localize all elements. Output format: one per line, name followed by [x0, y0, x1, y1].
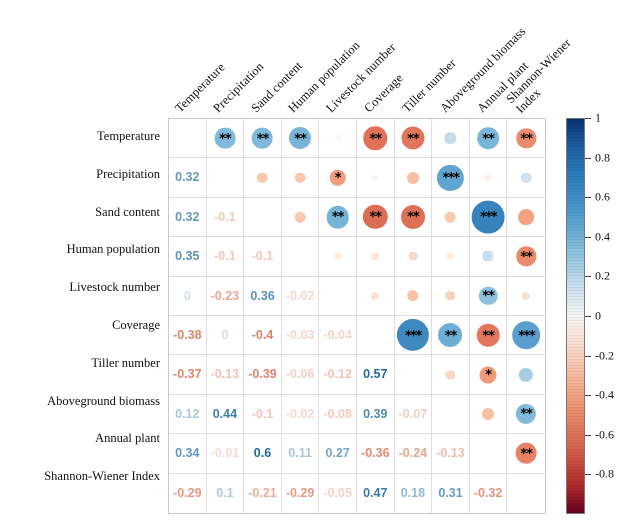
correlation-value: 0 [184, 290, 191, 303]
cell-value: 0.34 [169, 434, 207, 473]
cell-circle: ** [507, 395, 545, 434]
correlation-value: 0.44 [213, 408, 237, 421]
row-label-temperature: Temperature [0, 130, 160, 143]
cell-value: 0.44 [207, 395, 245, 434]
cell-circle [432, 277, 470, 316]
cell-diagonal [432, 395, 470, 434]
significance-stars: ** [482, 133, 494, 146]
correlation-dot [257, 172, 268, 183]
correlation-dot [409, 252, 418, 261]
cell-diagonal [507, 474, 545, 513]
cell-value: 0.32 [169, 198, 207, 237]
correlation-value: -0.29 [286, 487, 315, 500]
correlation-value: -0.01 [211, 447, 240, 460]
cell-circle [507, 277, 545, 316]
significance-stars: *** [518, 330, 534, 343]
cell-value: -0.03 [282, 316, 320, 355]
correlation-dot [482, 408, 494, 420]
cell-value: -0.13 [432, 434, 470, 473]
cell-circle: * [470, 355, 508, 394]
correlation-value: -0.1 [252, 408, 274, 421]
correlation-dot [407, 290, 419, 302]
colorbar-tick-label: 0.6 [595, 190, 610, 205]
cell-value: -0.02 [282, 277, 320, 316]
row-labels: TemperaturePrecipitationSand contentHuma… [0, 118, 166, 514]
significance-stars: ** [332, 211, 344, 224]
correlation-dot [485, 174, 491, 180]
row-label-human-population: Human population [0, 243, 160, 256]
row-label-tiller-number: Tiller number [0, 357, 160, 370]
correlation-value: -0.13 [436, 447, 465, 460]
correlation-value: 0.12 [175, 408, 199, 421]
cell-circle [470, 237, 508, 276]
cell-value: -0.37 [169, 355, 207, 394]
cell-value: -0.07 [395, 395, 433, 434]
correlation-value: -0.24 [399, 447, 428, 460]
cell-circle: * [319, 158, 357, 197]
column-labels: TemperaturePrecipitationSand contentHuma… [168, 0, 546, 118]
cell-circle: ** [507, 119, 545, 158]
cell-circle [395, 277, 433, 316]
significance-stars: ** [482, 290, 494, 303]
significance-stars: ** [520, 251, 532, 264]
cell-value: -0.39 [244, 355, 282, 394]
significance-stars: * [335, 172, 341, 185]
cell-value: 0.6 [244, 434, 282, 473]
cell-value: -0.38 [169, 316, 207, 355]
cell-circle: ** [470, 316, 508, 355]
cell-diagonal [282, 237, 320, 276]
correlation-value: -0.07 [399, 408, 428, 421]
correlation-value: -0.21 [248, 487, 277, 500]
cell-value: -0.23 [207, 277, 245, 316]
correlation-dot [371, 292, 379, 300]
colorbar-gradient [566, 118, 585, 514]
correlation-value: -0.29 [173, 487, 202, 500]
cell-circle: ** [432, 316, 470, 355]
correlation-value: -0.37 [173, 368, 202, 381]
cell-value: -0.1 [207, 237, 245, 276]
significance-stars: ** [219, 133, 231, 146]
significance-stars: ** [369, 211, 381, 224]
correlation-dot [483, 251, 494, 262]
colorbar-tick [585, 395, 591, 396]
correlation-value: 0.39 [363, 408, 387, 421]
correlation-dot [521, 172, 532, 183]
cell-circle: ** [357, 198, 395, 237]
correlation-value: 0.27 [326, 447, 350, 460]
cell-diagonal [244, 198, 282, 237]
cell-value: 0.11 [282, 434, 320, 473]
correlation-dot [446, 370, 455, 379]
cell-value: -0.32 [470, 474, 508, 513]
cell-value: -0.05 [319, 474, 357, 513]
cell-value: 0.39 [357, 395, 395, 434]
correlation-dot [407, 172, 419, 184]
cell-circle: *** [395, 316, 433, 355]
cell-circle [395, 158, 433, 197]
cell-circle [319, 237, 357, 276]
correlation-dot [518, 209, 534, 225]
cell-circle [507, 198, 545, 237]
correlation-value: 0.32 [175, 171, 199, 184]
significance-stars: ** [520, 408, 532, 421]
colorbar-tick [585, 118, 591, 119]
colorbar-tick [585, 197, 591, 198]
correlation-dot [335, 135, 341, 141]
cell-value: -0.1 [244, 395, 282, 434]
colorbar-tick-label: -0.2 [595, 348, 614, 363]
cell-value: 0.47 [357, 474, 395, 513]
cell-circle: ** [395, 119, 433, 158]
cell-circle: ** [470, 119, 508, 158]
cell-diagonal [395, 355, 433, 394]
cell-value: 0.27 [319, 434, 357, 473]
correlation-dot [522, 292, 530, 300]
correlation-value: -0.32 [474, 487, 503, 500]
correlation-value: 0.32 [175, 211, 199, 224]
correlation-dot [372, 175, 378, 181]
cell-circle [244, 158, 282, 197]
significance-stars: ** [520, 448, 532, 461]
correlation-dot [295, 212, 306, 223]
correlation-dot [519, 367, 533, 381]
cell-value: -0.29 [282, 474, 320, 513]
cell-value: 0.1 [207, 474, 245, 513]
cell-value: -0.1 [244, 237, 282, 276]
correlation-grid: **************0.32****0.32-0.1*********0… [168, 118, 546, 514]
correlation-value: 0.47 [363, 487, 387, 500]
cell-value: -0.13 [207, 355, 245, 394]
correlation-value: 0.11 [288, 447, 312, 460]
colorbar-tick [585, 435, 591, 436]
cell-value: -0.21 [244, 474, 282, 513]
correlation-value: -0.36 [361, 447, 390, 460]
correlation-value: 0.34 [175, 447, 199, 460]
cell-value: -0.24 [395, 434, 433, 473]
correlation-value: 0.6 [254, 447, 271, 460]
cell-circle [357, 277, 395, 316]
correlation-value: -0.02 [286, 290, 315, 303]
cell-diagonal [169, 119, 207, 158]
cell-value: -0.12 [319, 355, 357, 394]
colorbar-tick [585, 158, 591, 159]
correlation-value: -0.23 [211, 290, 240, 303]
cell-circle: ** [282, 119, 320, 158]
colorbar-tick-label: 0.2 [595, 269, 610, 284]
cell-value: -0.06 [282, 355, 320, 394]
significance-stars: ** [445, 330, 457, 343]
correlation-value: -0.38 [173, 329, 202, 342]
colorbar-tick [585, 474, 591, 475]
correlation-value: -0.1 [214, 250, 236, 263]
cell-circle [470, 158, 508, 197]
cell-value: -0.36 [357, 434, 395, 473]
colorbar-tick-label: -0.4 [595, 388, 614, 403]
correlation-value: -0.1 [214, 211, 236, 224]
correlation-value: -0.05 [323, 487, 352, 500]
cell-circle: ** [207, 119, 245, 158]
cell-diagonal [357, 316, 395, 355]
cell-circle [319, 119, 357, 158]
correlation-dot [334, 253, 341, 260]
cell-diagonal [319, 277, 357, 316]
row-label-livestock-number: Livestock number [0, 281, 160, 294]
row-label-coverage: Coverage [0, 319, 160, 332]
correlation-dot [295, 172, 306, 183]
colorbar-tick-label: -0.6 [595, 427, 614, 442]
cell-value: -0.1 [207, 198, 245, 237]
cell-value: 0.32 [169, 158, 207, 197]
row-label-shannon-wiener-index: Shannon-Wiener Index [0, 470, 160, 483]
cell-value: 0.12 [169, 395, 207, 434]
cell-value: -0.4 [244, 316, 282, 355]
significance-stars: * [485, 369, 491, 382]
cell-circle: ** [507, 434, 545, 473]
correlation-value: -0.03 [286, 329, 315, 342]
colorbar-tick-label: 0 [595, 309, 601, 324]
correlation-value: 0.57 [363, 368, 387, 381]
significance-stars: ** [294, 133, 306, 146]
cell-circle: ** [470, 277, 508, 316]
cell-circle: ** [395, 198, 433, 237]
correlation-value: -0.04 [323, 329, 352, 342]
cell-circle: *** [507, 316, 545, 355]
cell-diagonal [207, 158, 245, 197]
colorbar-tick [585, 237, 591, 238]
cell-value: -0.29 [169, 474, 207, 513]
colorbar-tick-label: 0.4 [595, 229, 610, 244]
correlation-value: -0.08 [323, 408, 352, 421]
row-label-precipitation: Precipitation [0, 168, 160, 181]
significance-stars: ** [369, 133, 381, 146]
cell-value: -0.01 [207, 434, 245, 473]
correlation-value: -0.4 [252, 329, 274, 342]
cell-circle [432, 355, 470, 394]
correlation-value: 0 [221, 329, 228, 342]
cell-circle: ** [507, 237, 545, 276]
cell-value: 0.35 [169, 237, 207, 276]
significance-stars: ** [482, 330, 494, 343]
cell-circle [432, 237, 470, 276]
significance-stars: ** [257, 133, 269, 146]
correlation-value: -0.06 [286, 368, 315, 381]
cell-circle [432, 198, 470, 237]
correlation-matrix-figure: TemperaturePrecipitationSand contentHuma… [0, 0, 631, 527]
cell-circle [395, 237, 433, 276]
colorbar-tick-label: -0.8 [595, 467, 614, 482]
correlation-dot [372, 253, 379, 260]
correlation-value: 0.1 [216, 487, 233, 500]
significance-stars: *** [405, 330, 421, 343]
colorbar-tick-label: 0.8 [595, 150, 610, 165]
cell-circle: *** [470, 198, 508, 237]
cell-value: 0.31 [432, 474, 470, 513]
cell-circle [432, 119, 470, 158]
cell-circle [282, 198, 320, 237]
cell-value: 0 [207, 316, 245, 355]
cell-circle: ** [244, 119, 282, 158]
correlation-dot [446, 291, 456, 301]
cell-value: 0.18 [395, 474, 433, 513]
colorbar: 10.80.60.40.20-0.2-0.4-0.6-0.8 [566, 118, 631, 514]
cell-circle [507, 158, 545, 197]
correlation-dot [445, 132, 457, 144]
correlation-value: -0.13 [211, 368, 240, 381]
row-label-annual-plant: Annual plant [0, 432, 160, 445]
correlation-value: -0.39 [248, 368, 277, 381]
correlation-value: -0.12 [323, 368, 352, 381]
correlation-value: 0.31 [438, 487, 462, 500]
correlation-dot [445, 212, 456, 223]
cell-circle [470, 395, 508, 434]
colorbar-tick-label: 1 [595, 111, 601, 126]
correlation-value: -0.02 [286, 408, 315, 421]
significance-stars: *** [480, 211, 496, 224]
cell-circle [282, 158, 320, 197]
cell-value: -0.04 [319, 316, 357, 355]
significance-stars: ** [407, 211, 419, 224]
cell-circle [357, 158, 395, 197]
colorbar-tick [585, 356, 591, 357]
correlation-value: 0.18 [401, 487, 425, 500]
row-label-sand-content: Sand content [0, 206, 160, 219]
cell-value: -0.08 [319, 395, 357, 434]
significance-stars: *** [443, 172, 459, 185]
cell-diagonal [470, 434, 508, 473]
cell-value: 0.36 [244, 277, 282, 316]
row-label-aboveground-biomass: Aboveground biomass [0, 395, 160, 408]
cell-value: 0 [169, 277, 207, 316]
significance-stars: ** [520, 133, 532, 146]
cell-circle: ** [357, 119, 395, 158]
correlation-value: 0.36 [250, 290, 274, 303]
correlation-dot [447, 253, 454, 260]
cell-value: -0.02 [282, 395, 320, 434]
correlation-value: 0.35 [175, 250, 199, 263]
colorbar-tick [585, 316, 591, 317]
cell-circle [507, 355, 545, 394]
cell-circle [357, 237, 395, 276]
cell-circle: *** [432, 158, 470, 197]
cell-value: 0.57 [357, 355, 395, 394]
correlation-value: -0.1 [252, 250, 274, 263]
significance-stars: ** [407, 133, 419, 146]
colorbar-tick [585, 276, 591, 277]
cell-circle: ** [319, 198, 357, 237]
